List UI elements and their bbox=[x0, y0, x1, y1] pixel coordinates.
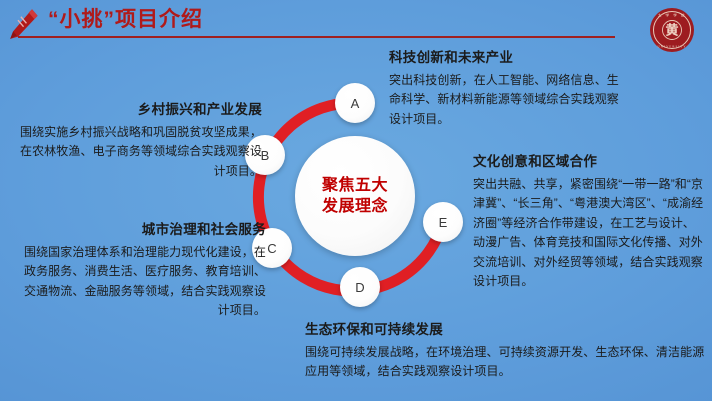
university-seal-logo-icon: 黄 大 学 学 院 UNIVERSITY bbox=[648, 6, 696, 54]
svg-text:UNIVERSITY: UNIVERSITY bbox=[657, 45, 686, 49]
content-block-urban: 城市治理和社会服务 围绕国家治理体系和治理能力现代化建设，在政务服务、消费生活、… bbox=[14, 218, 266, 321]
header-divider bbox=[18, 36, 615, 38]
node-label: C bbox=[267, 241, 276, 256]
content-block-culture: 文化创意和区域合作 突出共融、共享，紧密围绕“一带一路”和“京津冀”、“长三角”… bbox=[473, 150, 704, 292]
block-title-rural: 乡村振兴和产业发展 bbox=[14, 98, 262, 118]
block-title-culture: 文化创意和区域合作 bbox=[473, 150, 704, 170]
diagram-center-circle: 聚焦五大 发展理念 bbox=[295, 136, 415, 256]
block-body-urban: 围绕国家治理体系和治理能力现代化建设，在政务服务、消费生活、医疗服务、教育培训、… bbox=[14, 243, 266, 321]
block-title-urban: 城市治理和社会服务 bbox=[14, 218, 266, 238]
diagram-center-label: 聚焦五大 发展理念 bbox=[322, 175, 388, 217]
block-body-tech: 突出科技创新，在人工智能、网络信息、生命科学、新材料新能源等领域综合实践观察设计… bbox=[389, 71, 629, 129]
block-title-eco: 生态环保和可持续发展 bbox=[305, 318, 705, 338]
block-body-culture: 突出共融、共享，紧密围绕“一带一路”和“京津冀”、“长三角”、“粤港澳大湾区”、… bbox=[473, 175, 704, 292]
node-label: A bbox=[351, 96, 360, 111]
block-body-eco: 围绕可持续发展战略，在环境治理、可持续资源开发、生态环保、清洁能源应用等领域，结… bbox=[305, 343, 705, 382]
node-label: D bbox=[355, 280, 364, 295]
svg-text:黄: 黄 bbox=[665, 23, 678, 38]
diagram-node-d[interactable]: D bbox=[340, 267, 380, 307]
block-body-rural: 围绕实施乡村振兴战略和巩固脱贫攻坚成果，在农林牧渔、电子商务等领域综合实践观察设… bbox=[14, 123, 262, 181]
content-block-rural: 乡村振兴和产业发展 围绕实施乡村振兴战略和巩固脱贫攻坚成果，在农林牧渔、电子商务… bbox=[14, 98, 262, 181]
pencil-icon bbox=[8, 6, 42, 44]
block-title-tech: 科技创新和未来产业 bbox=[389, 46, 629, 66]
diagram-node-e[interactable]: E bbox=[423, 202, 463, 242]
page-title: “小挑”项目介绍 bbox=[48, 4, 468, 36]
presentation-slide: “小挑”项目介绍 黄 大 学 学 院 UNIVERSITY A B C D E bbox=[0, 0, 712, 401]
content-block-eco: 生态环保和可持续发展 围绕可持续发展战略，在环境治理、可持续资源开发、生态环保、… bbox=[305, 318, 705, 382]
content-block-tech: 科技创新和未来产业 突出科技创新，在人工智能、网络信息、生命科学、新材料新能源等… bbox=[389, 46, 629, 129]
svg-text:大 学 学 院: 大 学 学 院 bbox=[658, 13, 686, 18]
node-label: E bbox=[439, 215, 448, 230]
diagram-node-a[interactable]: A bbox=[335, 83, 375, 123]
